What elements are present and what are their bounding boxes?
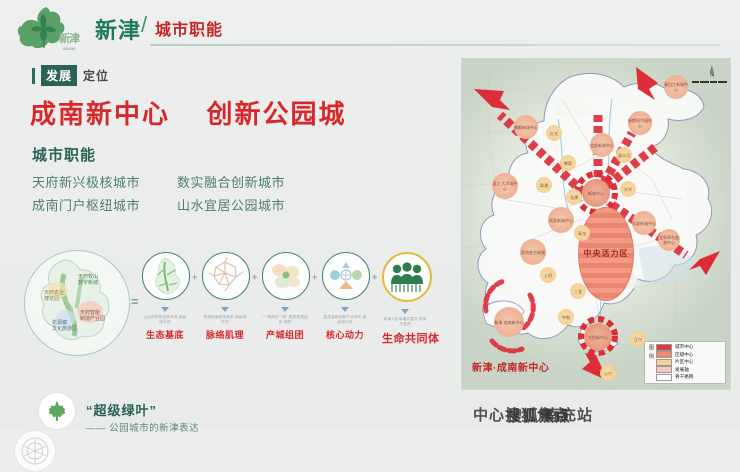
map-label-text: 正兴 (634, 337, 642, 342)
map-district-center[interactable]: 北部新城中心 (590, 133, 614, 157)
green-network-icon (142, 252, 190, 300)
subsection-heading: 城市职能 (32, 144, 96, 165)
down-arrow-icon (161, 307, 169, 312)
node-label: 生命共同体 (382, 330, 428, 346)
list-item: 成南门户枢纽城市 (32, 195, 177, 218)
header-slash: / (141, 12, 147, 38)
legend-swatch (656, 359, 672, 366)
legend-swatch (656, 374, 672, 381)
slide-page: 新津 XINJIN 新津 / 城市职能 发展 定位 成南新中心 创新公园城 城市… (0, 0, 740, 430)
down-arrow-icon (341, 307, 349, 312)
map-label-text: 龙泉驿东安湖中心 (658, 235, 680, 245)
people-group-icon (382, 252, 432, 302)
map-label-text: 龙潭 (570, 195, 578, 200)
logo-cn-text: 新津 XINJIN (59, 30, 79, 51)
cluster-blocks-icon (262, 252, 310, 300)
headline-part-1: 成南新中心 (30, 99, 170, 129)
map-district-center[interactable]: 温江·大学城中心 (492, 173, 518, 199)
map-label-text: 青白江新城中心 (664, 82, 688, 92)
map-label-text: 大桥新中心 (588, 335, 608, 340)
map-area-center[interactable]: 土桥 (540, 267, 556, 283)
legend-swatch (656, 351, 672, 358)
svg-text:博览园: 博览园 (44, 295, 59, 302)
list-item: 天府新兴极核城市 (32, 172, 177, 195)
map-area-center[interactable]: 三圣 (570, 283, 586, 299)
kicker-badge: 发展 (41, 65, 77, 86)
legend-items: 城市中心 区级中心 片区中心 发展轴 骨干路网 (656, 344, 723, 382)
map-area-center[interactable]: 公兴 (600, 365, 616, 381)
legend-label: 骨干路网 (675, 374, 693, 380)
map-label-text: 郫筒 (564, 161, 572, 166)
map-label-text: 新津·成南新中心 (494, 320, 523, 325)
legend-label: 城市中心 (675, 344, 693, 350)
node-caption: 带来经道和街休系 超级绿叶的 (202, 315, 248, 326)
svg-text:花源镇: 花源镇 (52, 319, 67, 326)
legend-label: 发展轴 (675, 367, 689, 373)
header-divider (150, 44, 720, 46)
map-label-text: 温江·大学城中心 (492, 181, 518, 191)
node-label: 生态基底 (142, 328, 188, 341)
plus-sign: + (372, 272, 377, 282)
legend-swatch (656, 366, 672, 373)
chain-node-community: 新津人民幸福共建共 享美不息的 生命共同体 (382, 252, 428, 346)
node-caption: 新津人民幸福共建共 享美不息的 (382, 317, 428, 328)
brand-name: 新津 (95, 13, 141, 45)
page-header: 新津 XINJIN 新津 / 城市职能 (0, 0, 740, 52)
plus-sign: + (192, 272, 197, 282)
map-label-text: 犀浦 (540, 183, 548, 188)
map-district-center[interactable]: 武侯新城中心 (548, 207, 574, 233)
map-label-text: 东部新城中心 (632, 221, 656, 226)
legend-title: 图例 (647, 344, 656, 382)
map-district-center[interactable]: 新都斑竹园中心 (628, 111, 652, 135)
north-arrow-icon (692, 63, 722, 83)
legend-row: 区级中心 (656, 351, 723, 359)
map-label: 天府牧山 (78, 273, 98, 280)
central-vitality-zone[interactable]: 中央活力区 (578, 207, 634, 301)
map-area-center[interactable]: 中和 (558, 309, 574, 325)
map-area-center[interactable]: 清水河 (616, 147, 632, 163)
map-label-text: 青龙 (578, 231, 586, 236)
map-area-center[interactable]: 郫筒 (560, 155, 576, 171)
map-area-center[interactable]: 红光 (546, 125, 562, 141)
plus-sign: + (312, 272, 317, 282)
map-label-text: 土桥 (544, 273, 552, 278)
map-label-text: 新城中心 (588, 191, 604, 196)
map-district-center[interactable]: 东部新城中心 (632, 211, 656, 235)
svg-text:制造产业园: 制造产业园 (80, 315, 105, 322)
node-caption: 山水田林的自然本底 超级绿叶的 (142, 315, 188, 326)
legend-row: 城市中心 (656, 344, 723, 352)
map-district-center[interactable]: 郫都新城中心 (514, 115, 538, 139)
svg-text:天府智能: 天府智能 (80, 309, 100, 316)
svg-text:文化旅游区: 文化旅游区 (52, 325, 77, 332)
plus-sign: + (252, 272, 257, 282)
street-grid-icon (202, 252, 250, 300)
map-area-center[interactable]: 青龙 (574, 225, 590, 241)
super-leaf-title: “超级绿叶” (86, 400, 157, 419)
compass-seal-icon (14, 430, 56, 472)
central-vitality-zone-label: 中央活力区 (584, 249, 629, 259)
node-caption: 高质量和创新产业体系 超级绿叶的 (322, 315, 368, 326)
map-district-center[interactable]: 龙泉驿东安湖中心 (658, 229, 680, 251)
kicker-row: 发展 定位 (32, 65, 109, 86)
chain-node-texture: 带来经道和街休系 超级绿叶的 脉络肌理 (202, 252, 248, 341)
map-label-text: 双流临空新城 (521, 250, 545, 255)
map-district-center[interactable]: 青白江新城中心 (664, 75, 688, 99)
super-leaf-subtitle: —— 公园城市的新津表达 (86, 420, 199, 434)
list-item: 山水宜居公园城市 (177, 195, 322, 218)
headline-part-2: 创新公园城 (206, 99, 346, 129)
map-label-text: 公兴 (604, 371, 612, 376)
map-title: 新津·成南新中心 (472, 359, 549, 374)
map-center-daqiao[interactable]: 大桥新中心 (584, 323, 612, 351)
map-label-text: 北部新城中心 (590, 143, 614, 148)
map-label-text: 新都斑竹园中心 (628, 118, 652, 128)
map-label-text: 清水河 (618, 153, 630, 158)
city-function-list: 天府新兴极核城市 数实融合创新城市 成南门户枢纽城市 山水宜居公园城市 (32, 172, 332, 218)
map-area-center[interactable]: 犀浦 (536, 177, 552, 193)
kicker-bar (32, 68, 35, 84)
watermark-line-3: 南充站 (545, 404, 593, 425)
equals-sign: = (131, 294, 139, 309)
node-label: 产城组团 (262, 328, 308, 341)
xinjin-district-map-icon: 天府牧山 数字新城 天府农业 博览园 天府智能 制造产业园 花源镇 文化旅游区 (30, 256, 122, 348)
formula-chain: 山水田林的自然本底 超级绿叶的 生态基底 + (142, 252, 442, 430)
legend-row: 片区中心 (656, 359, 723, 367)
svg-text:天府农业: 天府农业 (44, 289, 64, 296)
map-label-text: 武侯新城中心 (549, 218, 573, 223)
maple-leaf-icon (38, 392, 76, 430)
map-district-center-xinjin[interactable]: 新津·成南新中心 (494, 307, 524, 337)
node-label: 脉络肌理 (202, 328, 248, 341)
chain-node-cluster: “一城两区一带” 枢纽型组团的 城的 产城组团 (262, 252, 308, 341)
map-label-text: 郫都新城中心 (514, 125, 538, 130)
map-label-text: 中和 (562, 315, 570, 320)
map-label-text: 红光 (550, 131, 558, 136)
map-legend: 图例 城市中心 区级中心 片区中心 发展轴 (644, 341, 726, 385)
kicker-subtitle: 定位 (83, 67, 109, 84)
left-content-panel: 发展 定位 成南新中心 创新公园城 城市职能 天府新兴极核城市 数实融合创新城市… (0, 52, 452, 430)
chain-node-core-power: 高质量和创新产业体系 超级绿叶的 核心动力 (322, 252, 368, 341)
map-district-center[interactable]: 双流临空新城 (520, 239, 546, 265)
regional-structure-map[interactable]: 中央活力区 新城中心 大桥新中心 青白江新城中心 新都斑竹园中心 北部新城中心 … (461, 58, 731, 390)
legend-swatch (656, 344, 672, 351)
map-label-text: 三圣 (574, 289, 582, 294)
svg-text:数字新城: 数字新城 (78, 279, 98, 286)
leaf-logo-icon: 新津 XINJIN (14, 6, 86, 50)
down-arrow-icon (221, 307, 229, 312)
legend-label: 片区中心 (675, 359, 693, 365)
list-item: 数实融合创新城市 (177, 172, 322, 195)
headline: 成南新中心 创新公园城 (30, 94, 347, 131)
chain-node-ecology: 山水田林的自然本底 超级绿叶的 生态基底 (142, 252, 188, 341)
watermark: 中心搜狐焦点 搜狐焦点 南充站 (455, 404, 740, 428)
map-center-xincheng[interactable]: 新城中心 (582, 179, 610, 207)
legend-row: 骨干路网 (656, 374, 723, 382)
innovation-hub-icon (322, 252, 370, 300)
node-label: 核心动力 (322, 328, 368, 341)
map-label-text: 光华 (624, 187, 632, 192)
down-arrow-icon (401, 309, 409, 314)
legend-label: 区级中心 (675, 352, 693, 358)
down-arrow-icon (281, 307, 289, 312)
legend-row: 发展轴 (656, 366, 723, 374)
map-area-center[interactable]: 龙潭 (566, 189, 582, 205)
map-area-center[interactable]: 光华 (620, 181, 636, 197)
scale-bar-icon (692, 81, 727, 83)
node-caption: “一城两区一带” 枢纽型组团的 城的 (262, 315, 308, 326)
page-title: 城市职能 (155, 16, 223, 40)
